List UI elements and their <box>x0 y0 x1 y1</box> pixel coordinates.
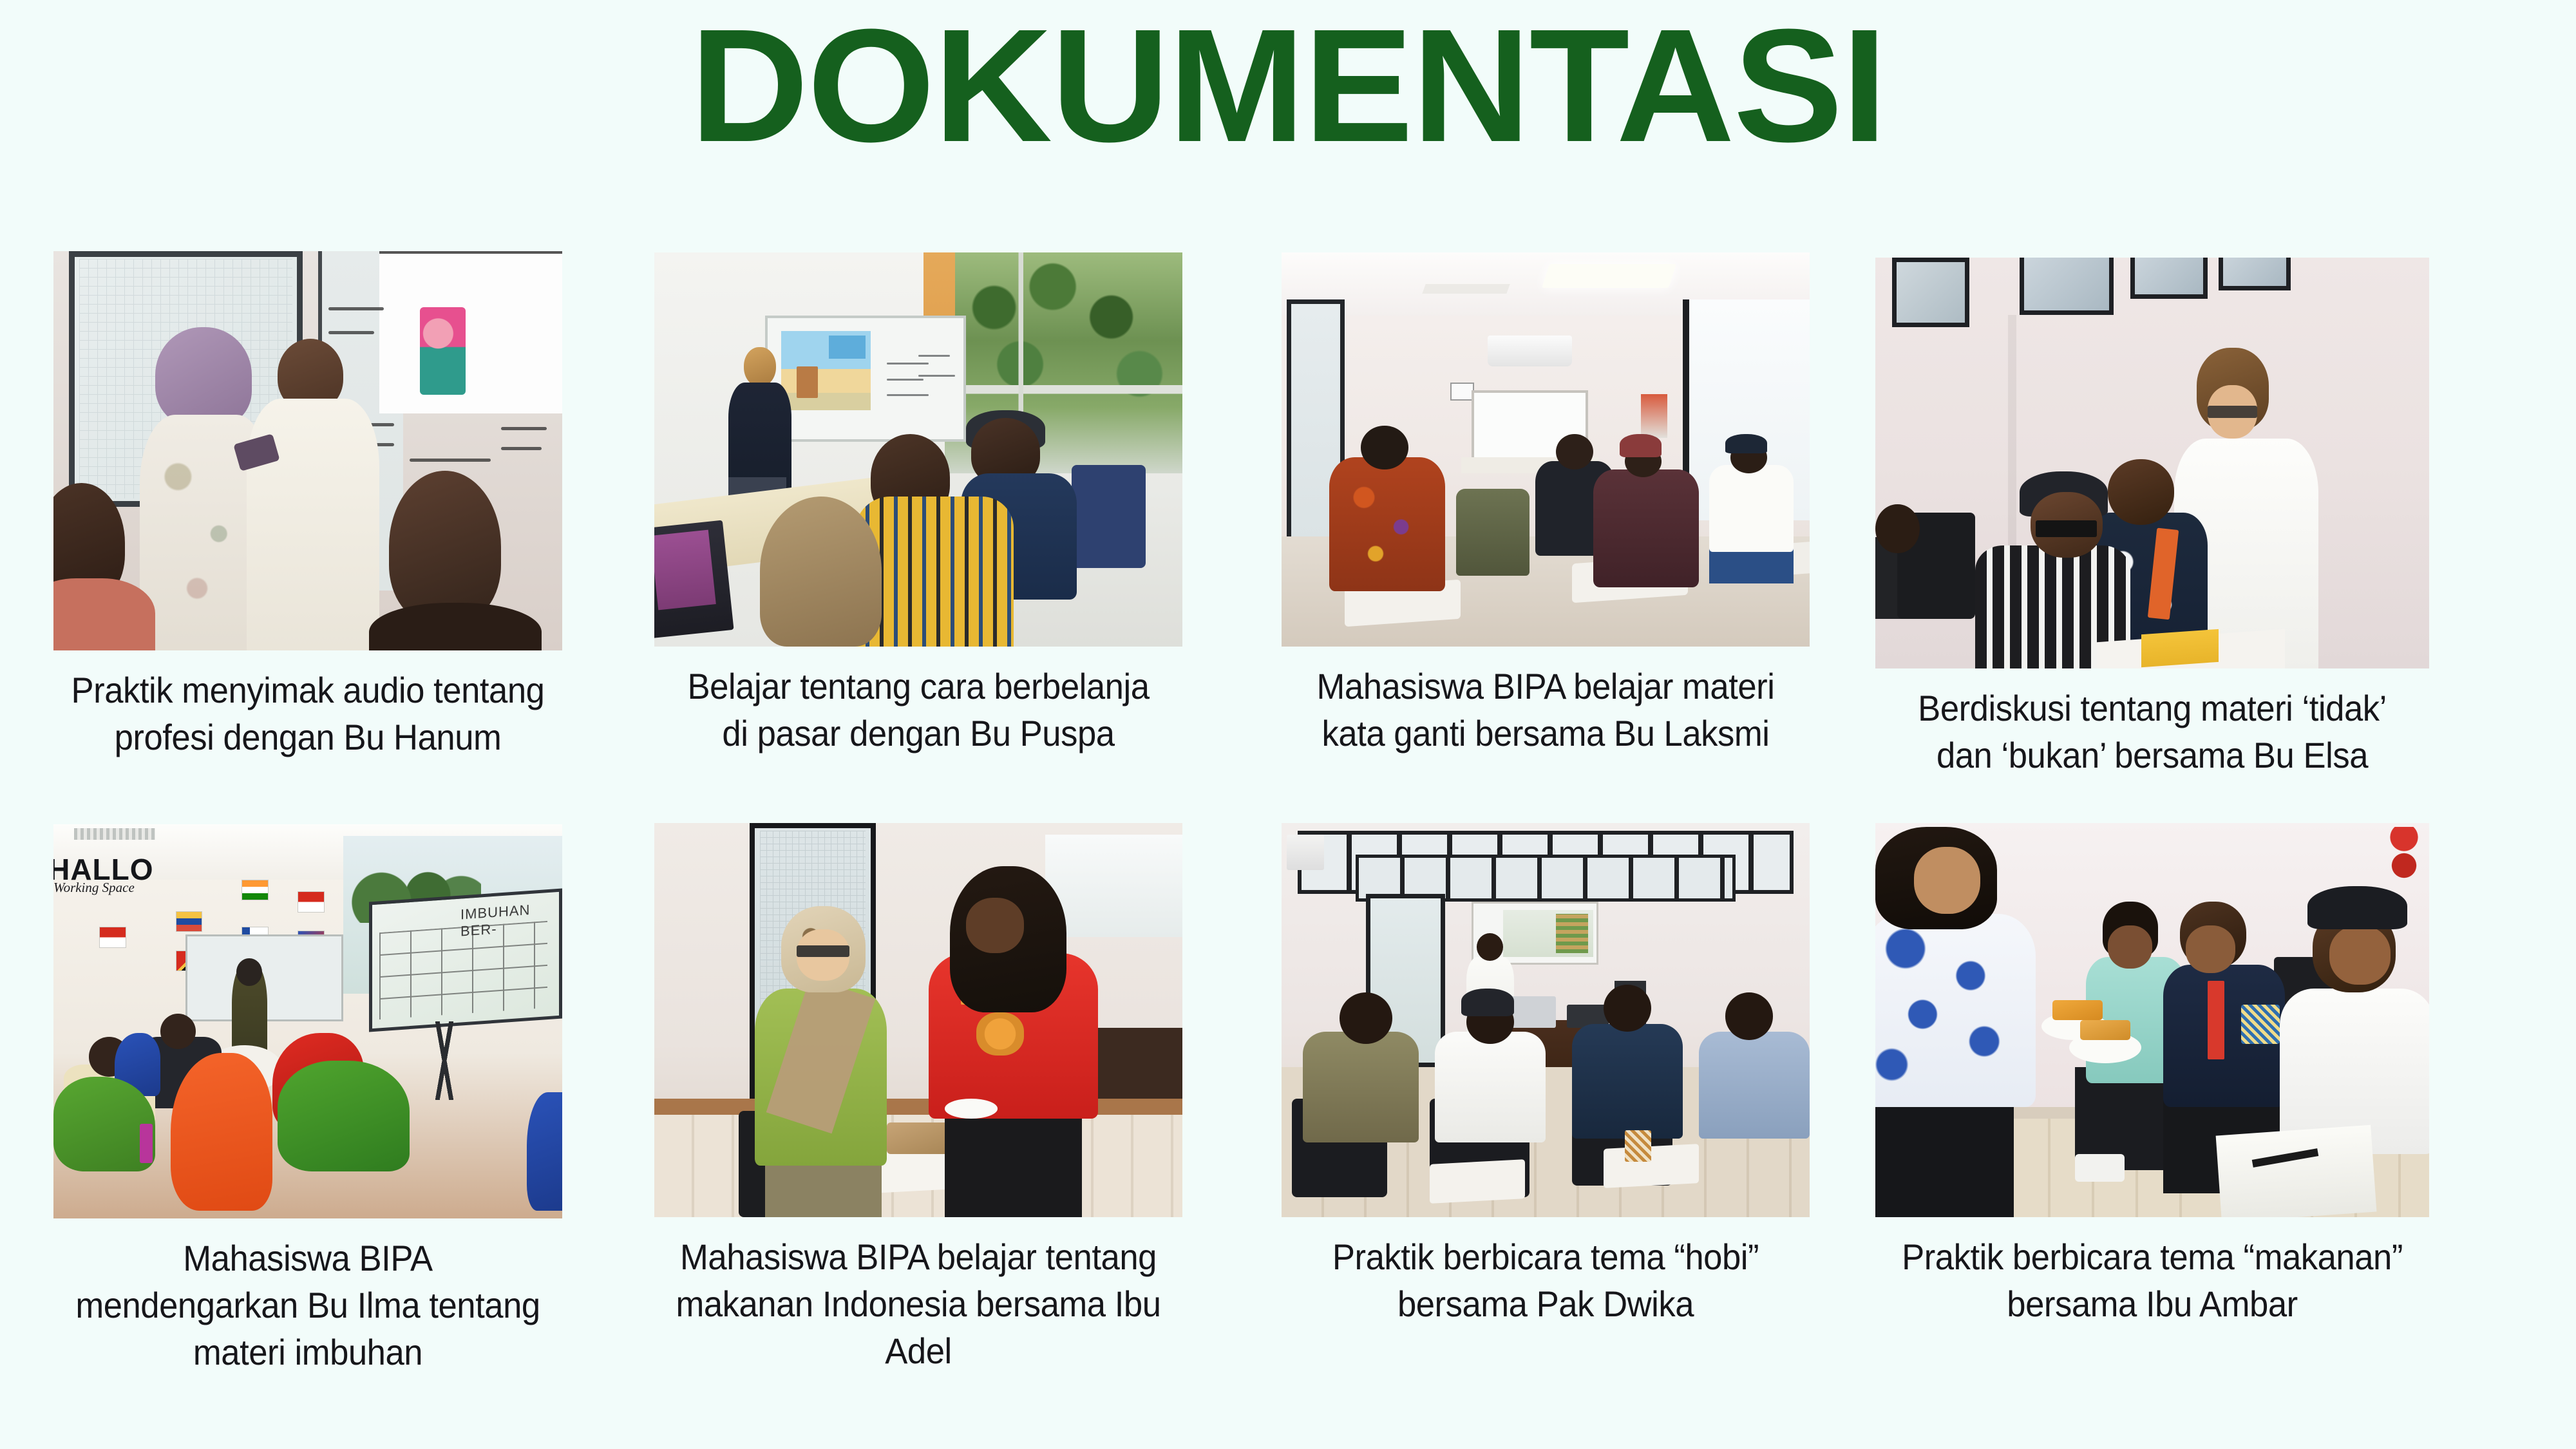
photo-5-image[interactable]: HALLO Working Space IMBUHAN BER- <box>53 824 562 1218</box>
page-title: DOKUMENTASI <box>0 5 2576 166</box>
gallery-item-2[interactable]: Belajar tentang cara berbelanja di pasar… <box>654 252 1182 757</box>
photo-8-image[interactable] <box>1875 823 2429 1217</box>
photo-3-image[interactable] <box>1282 252 1810 647</box>
flag-2-icon <box>298 891 325 913</box>
photo-5-logo-subtext: Working Space <box>53 880 135 896</box>
photo-6-image[interactable] <box>654 823 1182 1217</box>
photo-3-caption: Mahasiswa BIPA belajar materi kata ganti… <box>1298 663 1794 757</box>
photo-2-caption: Belajar tentang cara berbelanja di pasar… <box>670 663 1167 757</box>
flag-colombia-icon <box>176 911 203 933</box>
photo-gallery-grid: Praktik menyimak audio tentang profesi d… <box>0 238 2576 1436</box>
photo-8-caption: Praktik berbicara tema “makanan” bersama… <box>1892 1234 2412 1328</box>
photo-7-caption: Praktik berbicara tema “hobi” bersama Pa… <box>1298 1234 1794 1328</box>
gallery-item-1[interactable]: Praktik menyimak audio tentang profesi d… <box>53 251 562 761</box>
gallery-item-3[interactable]: Mahasiswa BIPA belajar materi kata ganti… <box>1282 252 1810 757</box>
gallery-item-6[interactable]: Mahasiswa BIPA belajar tentang makanan I… <box>654 823 1182 1374</box>
flag-india-icon <box>241 880 269 901</box>
photo-5-caption: Mahasiswa BIPA mendengarkan Bu Ilma tent… <box>69 1235 547 1376</box>
photo-1-caption: Praktik menyimak audio tentang profesi d… <box>69 667 547 761</box>
photo-4-caption: Berdiskusi tentang materi ‘tidak’ dan ‘b… <box>1892 685 2412 779</box>
photo-1-image[interactable] <box>53 251 562 650</box>
photo-6-caption: Mahasiswa BIPA belajar tentang makanan I… <box>670 1234 1167 1374</box>
photo-7-image[interactable] <box>1282 823 1810 1217</box>
gallery-item-4[interactable]: Berdiskusi tentang materi ‘tidak’ dan ‘b… <box>1875 258 2429 779</box>
photo-2-image[interactable] <box>654 252 1182 647</box>
gallery-item-5[interactable]: HALLO Working Space IMBUHAN BER- Mahasis… <box>53 824 562 1376</box>
flag-indonesia-icon <box>99 927 126 948</box>
gallery-item-8[interactable]: Praktik berbicara tema “makanan” bersama… <box>1875 823 2429 1328</box>
photo-4-image[interactable] <box>1875 258 2429 668</box>
gallery-item-7[interactable]: Praktik berbicara tema “hobi” bersama Pa… <box>1282 823 1810 1328</box>
